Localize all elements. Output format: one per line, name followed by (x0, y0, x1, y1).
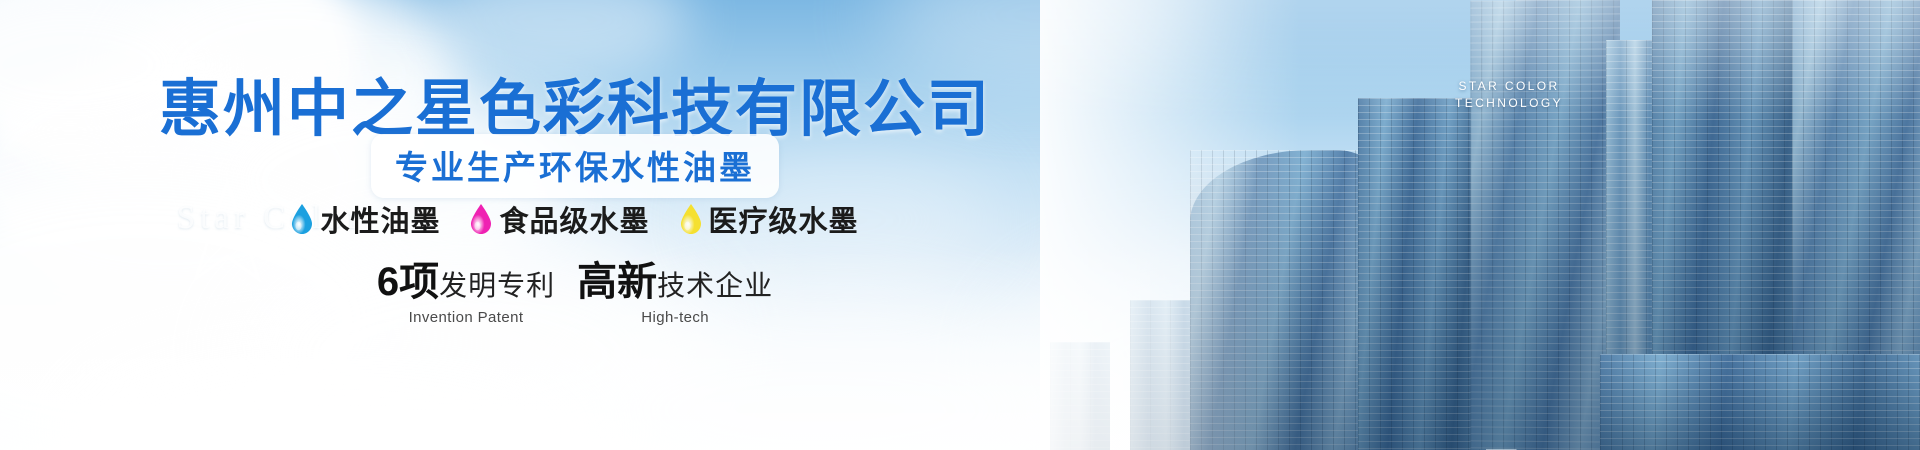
water-drop-icon (470, 204, 492, 234)
feature-label: 水性油墨 (320, 198, 440, 240)
corner-brand-line-1: STAR COLOR (1434, 78, 1584, 95)
badge-emphasis: 6项 (377, 260, 439, 304)
feature-list: 水性油墨食品级水墨医疗级水墨 (0, 198, 1150, 240)
badge-emphasis: 高新 (577, 260, 657, 304)
badge-english-label: High-tech (577, 309, 773, 326)
feature-item: 水性油墨 (291, 198, 440, 240)
badge-chinese-line: 高新技术企业 (577, 262, 773, 302)
feature-label: 食品级水墨 (499, 198, 649, 240)
building-mid-tower (1358, 98, 1486, 450)
corner-brand-line-2: TECHNOLOGY (1434, 95, 1584, 112)
subtitle-row: 专业生产环保水性油墨 (0, 134, 1150, 198)
credential-badge: 6项发明专利Invention Patent (377, 262, 555, 326)
badge-chinese-line: 6项发明专利 (377, 262, 555, 302)
city-skyline-photo (1040, 0, 1920, 450)
feature-item: 医疗级水墨 (680, 198, 859, 240)
badge-list: 6项发明专利Invention Patent高新技术企业High-tech (0, 262, 1150, 326)
badge-english-label: Invention Patent (377, 309, 555, 326)
building-podium (1600, 354, 1920, 450)
badge-detail: 技术企业 (657, 270, 773, 301)
corner-brand-mark: STAR COLOR TECHNOLOGY (1434, 78, 1584, 112)
promo-banner: Star Color (0, 0, 1920, 450)
feature-label: 医疗级水墨 (709, 198, 859, 240)
banner-content: 惠州中之星色彩科技有限公司 专业生产环保水性油墨 水性油墨食品级水墨医疗级水墨 … (0, 0, 1150, 450)
water-drop-icon (291, 204, 313, 234)
credential-badge: 高新技术企业High-tech (577, 262, 773, 326)
feature-item: 食品级水墨 (470, 198, 649, 240)
water-drop-icon (680, 204, 702, 234)
subtitle-pill: 专业生产环保水性油墨 (371, 134, 779, 198)
badge-detail: 发明专利 (439, 270, 555, 301)
